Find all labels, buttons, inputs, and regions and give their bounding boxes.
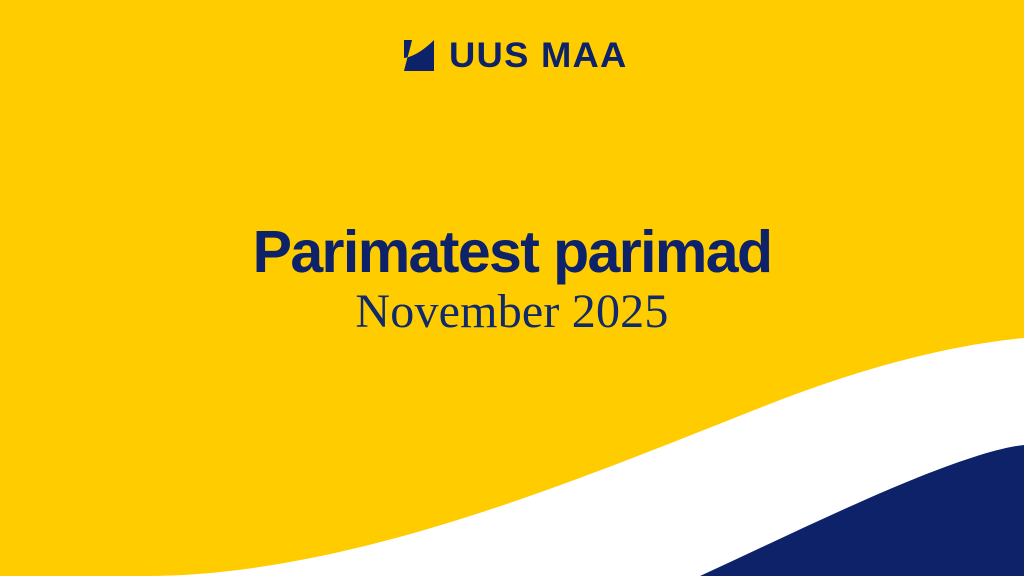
title-slide: UUS MAA Parimatest parimad November 2025 [0,0,1024,576]
headline-block: Parimatest parimad November 2025 [0,222,1024,338]
brand-wordmark: UUS MAA [449,38,628,73]
page-subtitle: November 2025 [0,286,1024,338]
page-title: Parimatest parimad [0,222,1024,283]
uus-maa-swoosh-mark-icon [404,40,434,71]
brand-logo[interactable]: UUS MAA [0,38,1024,73]
